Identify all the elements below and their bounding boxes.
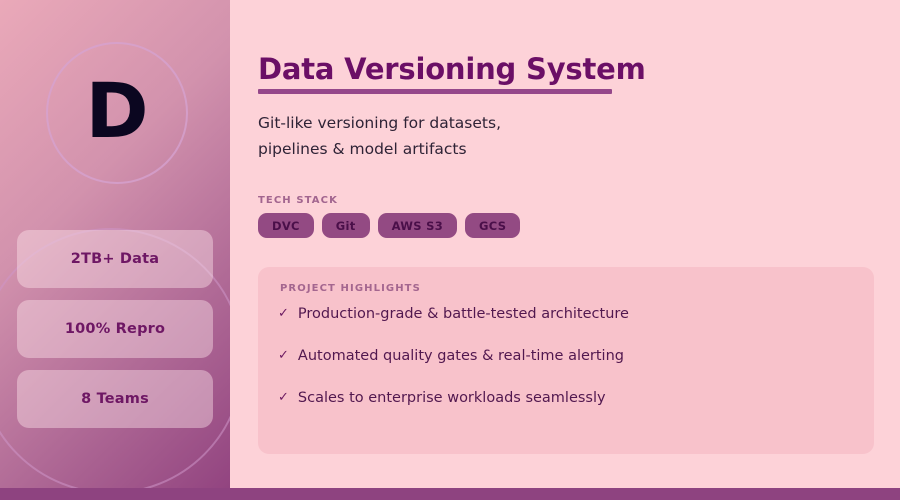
logo-badge: D [46,42,188,184]
list-item-label: Automated quality gates & real-time aler… [298,347,624,365]
stat-card-label: 8 Teams [81,391,149,407]
tech-chip-gcs[interactable]: GCS [465,213,520,238]
stat-card-list: 2TB+ Data 100% Repro 8 Teams [17,230,213,440]
tech-stack-heading: TECH STACK [258,195,338,206]
project-highlights-list: ✓ Production-grade & battle-tested archi… [278,305,860,431]
list-item: ✓ Scales to enterprise workloads seamles… [278,389,860,431]
page-title: Data Versioning System [258,52,646,86]
tech-chip-git[interactable]: Git [322,213,370,238]
tech-chip-label: AWS S3 [392,219,443,233]
stat-card-repro[interactable]: 100% Repro [17,300,213,358]
stat-card-label: 100% Repro [65,321,165,337]
tech-chip-label: Git [336,219,356,233]
title-underline-rule [258,89,612,94]
slide-canvas: D 2TB+ Data 100% Repro 8 Teams Data Vers… [0,0,900,500]
project-highlights-panel: PROJECT HIGHLIGHTS ✓ Production-grade & … [258,267,874,454]
main-content: Data Versioning System Git-like versioni… [230,0,900,488]
logo-letter: D [85,73,148,149]
sidebar: D 2TB+ Data 100% Repro 8 Teams [0,0,230,488]
check-icon: ✓ [278,347,289,365]
check-icon: ✓ [278,389,289,407]
stat-card-data[interactable]: 2TB+ Data [17,230,213,288]
bottom-accent-bar [0,488,900,500]
tech-chip-dvc[interactable]: DVC [258,213,314,238]
check-icon: ✓ [278,305,289,323]
list-item: ✓ Automated quality gates & real-time al… [278,347,860,389]
tech-chip-aws-s3[interactable]: AWS S3 [378,213,457,238]
tech-chip-label: DVC [272,219,300,233]
project-highlights-heading: PROJECT HIGHLIGHTS [280,283,421,294]
stat-card-teams[interactable]: 8 Teams [17,370,213,428]
tech-stack-chip-row: DVC Git AWS S3 GCS [258,213,520,238]
list-item: ✓ Production-grade & battle-tested archi… [278,305,860,347]
page-subtitle: Git-like versioning for datasets, pipeli… [258,110,678,162]
stat-card-label: 2TB+ Data [71,251,160,267]
tech-chip-label: GCS [479,219,506,233]
list-item-label: Production-grade & battle-tested archite… [298,305,629,323]
list-item-label: Scales to enterprise workloads seamlessl… [298,389,606,407]
